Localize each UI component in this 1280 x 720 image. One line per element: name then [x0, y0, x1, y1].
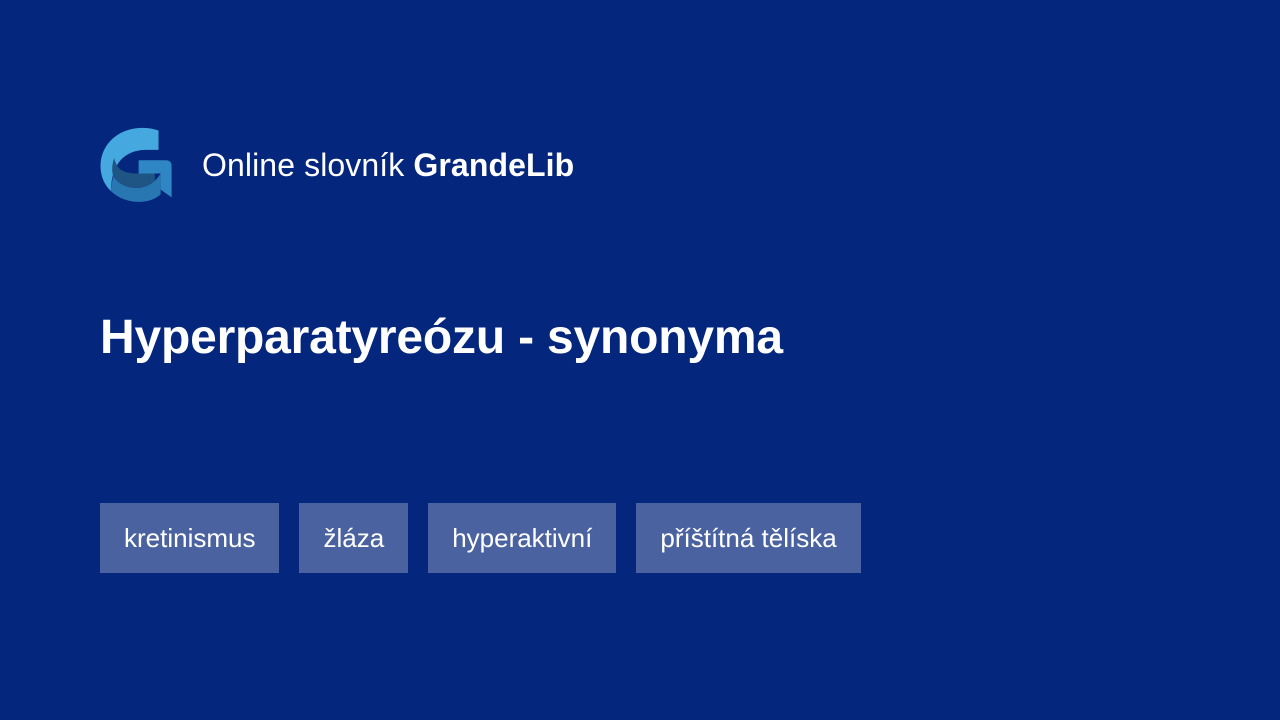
brand-title: Online slovníkGrandeLib	[202, 149, 574, 181]
synonym-list: kretinismus žláza hyperaktivní příštítná…	[100, 503, 1180, 573]
page-root: Online slovníkGrandeLib Hyperparatyreózu…	[0, 0, 1280, 720]
brand-name: GrandeLib	[413, 147, 574, 183]
synonym-chip[interactable]: žláza	[299, 503, 408, 573]
synonym-chip[interactable]: příštítná tělíska	[636, 503, 860, 573]
synonym-chip[interactable]: hyperaktivní	[428, 503, 616, 573]
page-title: Hyperparatyreózu - synonyma	[100, 310, 783, 365]
site-brand-header[interactable]: Online slovníkGrandeLib	[100, 126, 574, 204]
synonym-chip[interactable]: kretinismus	[100, 503, 279, 573]
brand-prefix: Online slovník	[202, 147, 404, 183]
grandelib-g-logo-icon[interactable]	[100, 127, 172, 203]
